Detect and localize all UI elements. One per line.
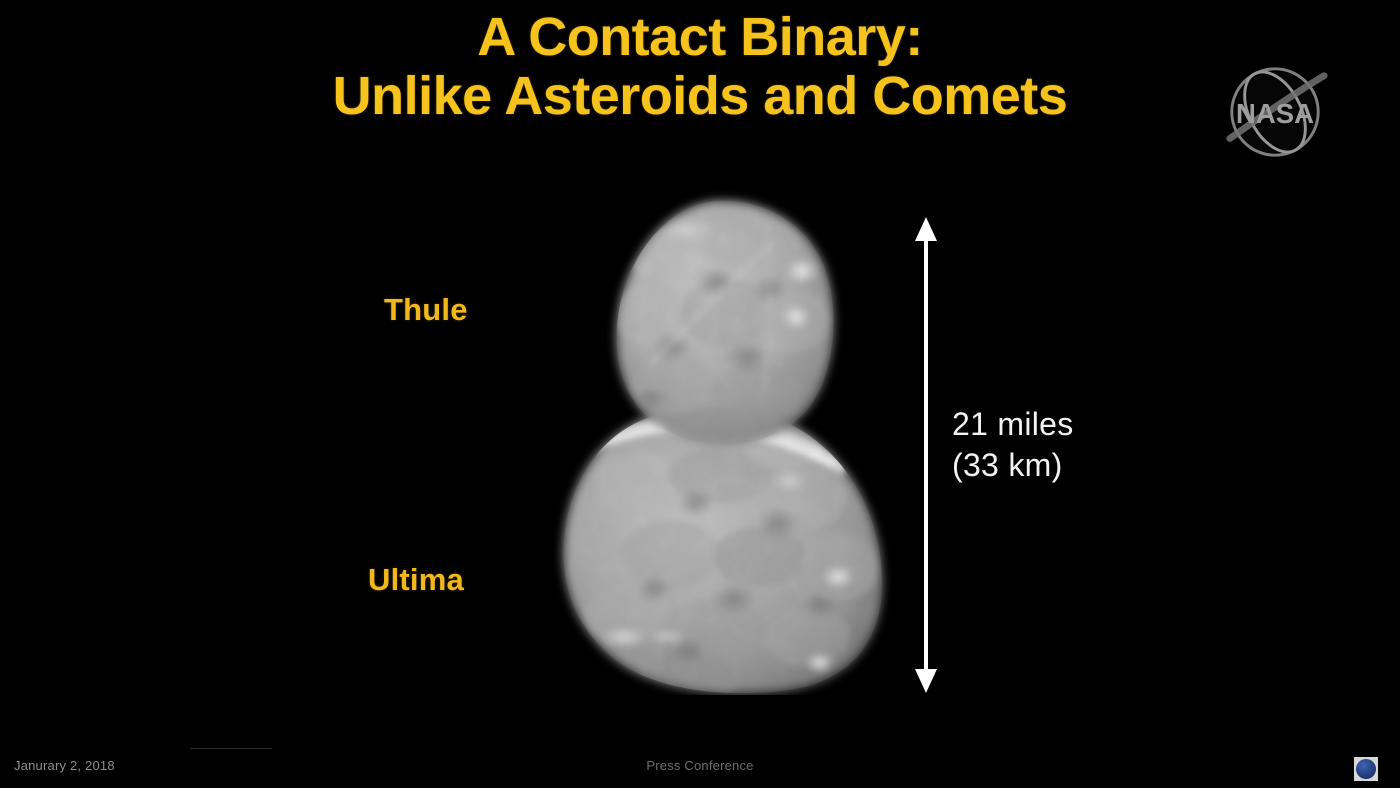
nasa-seal-badge — [1354, 757, 1378, 781]
page-title: A Contact Binary: Unlike Asteroids and C… — [0, 10, 1400, 124]
scale-label: 21 miles (33 km) — [952, 404, 1074, 486]
nasa-seal-badge-inner — [1356, 759, 1376, 779]
nasa-wordmark: NASA — [1236, 98, 1314, 129]
scale-bar-arrow — [905, 215, 947, 695]
nasa-meatball-logo: NASA — [1216, 58, 1334, 166]
scale-label-km: (33 km) — [952, 445, 1074, 486]
scale-label-miles: 21 miles — [952, 404, 1074, 445]
title-line-1: A Contact Binary: — [0, 10, 1400, 65]
ultima-thule-image — [520, 185, 920, 695]
image-grain — [563, 201, 882, 693]
lobe-label-thule: Thule — [384, 292, 468, 328]
footer-divider — [190, 748, 272, 749]
footer-event-label: Press Conference — [0, 758, 1400, 773]
lobe-label-ultima: Ultima — [368, 562, 464, 598]
title-line-2: Unlike Asteroids and Comets — [0, 69, 1400, 124]
presentation-slide: A Contact Binary: Unlike Asteroids and C… — [0, 0, 1400, 788]
